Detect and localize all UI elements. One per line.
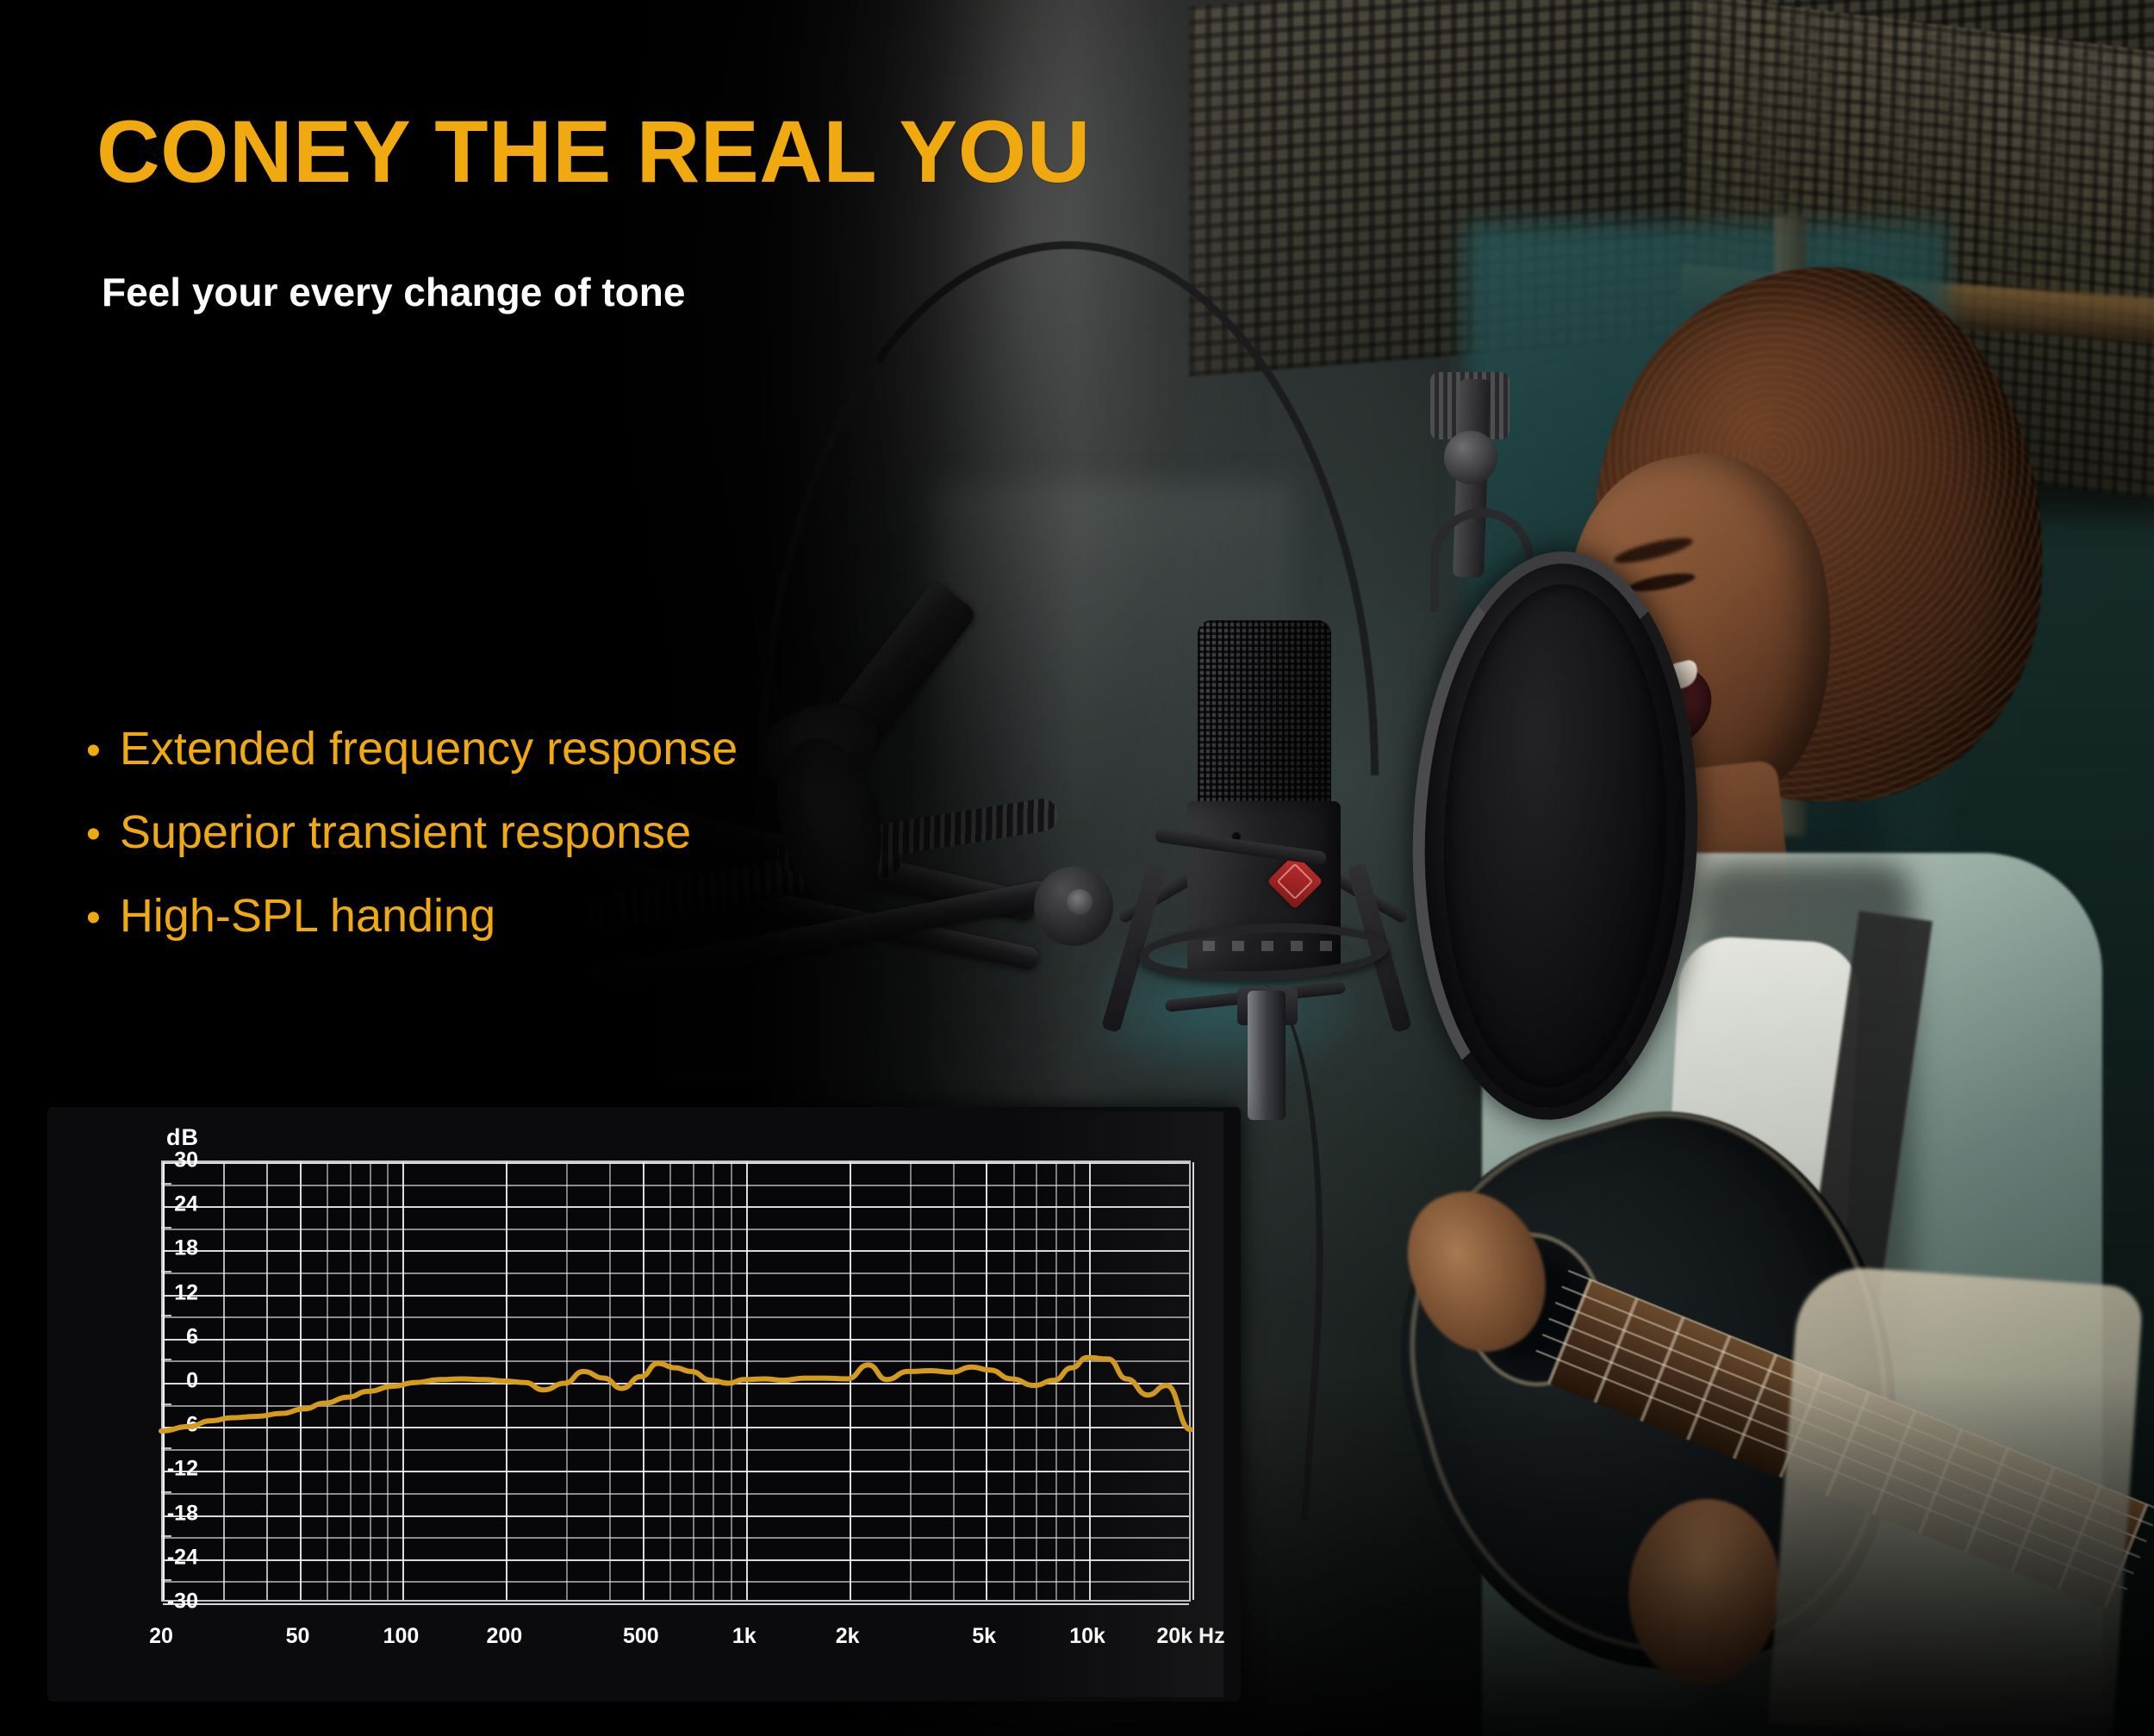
microphone-grille xyxy=(1198,620,1331,810)
feature-label: High-SPL handing xyxy=(120,889,495,943)
list-item: • High-SPL handing xyxy=(86,889,738,943)
chart-x-tick-label: 1k xyxy=(732,1624,756,1649)
chart-x-tick-label: 20 xyxy=(149,1624,173,1649)
pop-filter-ball-joint xyxy=(1444,431,1497,484)
chart-y-axis-unit: dB xyxy=(166,1124,199,1151)
chart-x-tick-label: 200 xyxy=(486,1624,522,1649)
chart-x-tick-label: 2k xyxy=(836,1624,860,1649)
feature-label: Extended frequency response xyxy=(120,722,738,775)
bullet-icon: • xyxy=(86,731,101,772)
chart-gridline-v xyxy=(1192,1162,1194,1600)
list-item: • Extended frequency response xyxy=(86,722,738,775)
page-title: CONEY THE REAL YOU xyxy=(96,102,1091,202)
frequency-response-chart: dB 3024181260-6-12-18-24-30 205010020050… xyxy=(47,1107,1241,1702)
microphone-stem xyxy=(1248,991,1286,1120)
chart-response-curve xyxy=(161,1160,1191,1602)
list-item: • Superior transient response xyxy=(86,806,738,859)
bullet-icon: • xyxy=(86,898,101,939)
bullet-icon: • xyxy=(86,814,101,856)
chart-x-tick-label: 50 xyxy=(286,1624,310,1649)
feature-list: • Extended frequency response • Superior… xyxy=(86,722,738,973)
chart-x-tick-label: 10k xyxy=(1069,1624,1105,1649)
feature-label: Superior transient response xyxy=(120,806,691,859)
chart-x-tick-label: 20k Hz xyxy=(1156,1624,1224,1649)
banner-stage: CONEY THE REAL YOU Feel your every chang… xyxy=(0,0,2154,1736)
chart-x-tick-label: 500 xyxy=(623,1624,659,1649)
page-subtitle: Feel your every change of tone xyxy=(102,269,685,315)
chart-gridline-h xyxy=(163,1603,1189,1605)
chart-x-tick-label: 5k xyxy=(972,1624,996,1649)
chart-series-line xyxy=(161,1358,1191,1431)
chart-x-tick-label: 100 xyxy=(383,1624,420,1649)
